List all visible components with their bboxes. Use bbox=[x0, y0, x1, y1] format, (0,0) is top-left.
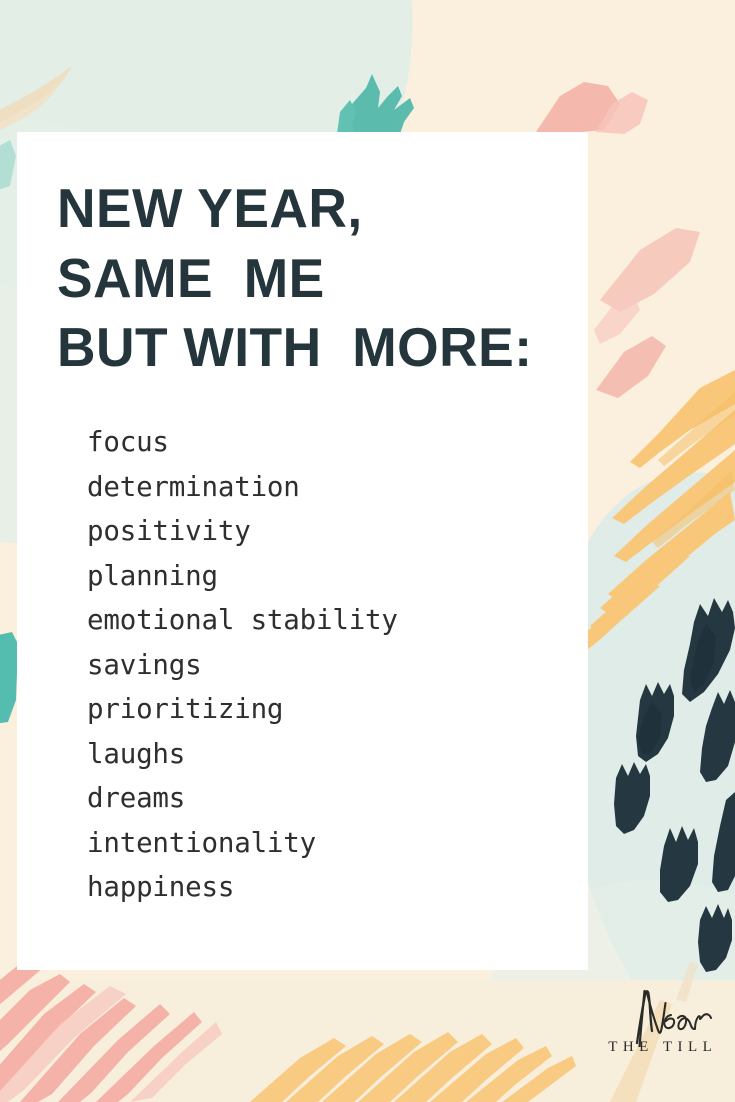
content-card: NEW YEAR, SAME ME BUT WITH MORE: focus d… bbox=[17, 132, 588, 970]
gold-scribble-bottom bbox=[250, 1032, 576, 1102]
teal-stroke-top-2 bbox=[337, 100, 356, 134]
gold-scribble-right-highlight bbox=[652, 392, 735, 548]
list-item: savings bbox=[87, 643, 567, 688]
pink-stroke-right-3 bbox=[594, 296, 640, 344]
list-item: emotional stability bbox=[87, 598, 567, 643]
tan-stroke-topleft bbox=[0, 66, 72, 124]
pink-scribble-bottomleft-soft bbox=[0, 986, 222, 1102]
headline-line-3: BUT WITH MORE: bbox=[57, 313, 561, 383]
list-item: positivity bbox=[87, 509, 567, 554]
list-item: intentionality bbox=[87, 821, 567, 866]
headline-line-2: SAME ME bbox=[57, 244, 561, 314]
signature-script-icon bbox=[600, 985, 720, 1047]
teal-stroke-upper-left bbox=[0, 140, 16, 192]
brand-logo: THE TILL bbox=[600, 985, 720, 1075]
list-item: determination bbox=[87, 465, 567, 510]
list-item: focus bbox=[87, 420, 567, 465]
pink-scribble-bottomleft bbox=[0, 952, 202, 1102]
pink-stroke-right bbox=[600, 228, 700, 312]
teal-stroke-left-edge bbox=[0, 632, 18, 724]
page-title: NEW YEAR, SAME ME BUT WITH MORE: bbox=[57, 174, 561, 383]
headline-line-1: NEW YEAR, bbox=[57, 174, 561, 244]
list-item: dreams bbox=[87, 776, 567, 821]
pink-wedge-top-2 bbox=[596, 92, 648, 134]
navy-brush-dabs bbox=[614, 598, 735, 972]
logo-wordmark: THE TILL bbox=[600, 1039, 720, 1056]
poster-canvas: NEW YEAR, SAME ME BUT WITH MORE: focus d… bbox=[0, 0, 735, 1102]
list-item: happiness bbox=[87, 865, 567, 910]
list-item: planning bbox=[87, 554, 567, 599]
navy-brush-dabs-highlight bbox=[638, 624, 716, 754]
list-item: laughs bbox=[87, 732, 567, 777]
teal-stroke-top bbox=[349, 74, 414, 134]
gold-scribble-right bbox=[574, 370, 735, 654]
tan-stroke-topleft-2 bbox=[0, 86, 58, 133]
list-item: prioritizing bbox=[87, 687, 567, 732]
wishlist: focus determination positivity planning … bbox=[87, 420, 567, 910]
pink-stroke-right-2 bbox=[596, 336, 666, 398]
pink-wedge-top bbox=[536, 82, 620, 134]
